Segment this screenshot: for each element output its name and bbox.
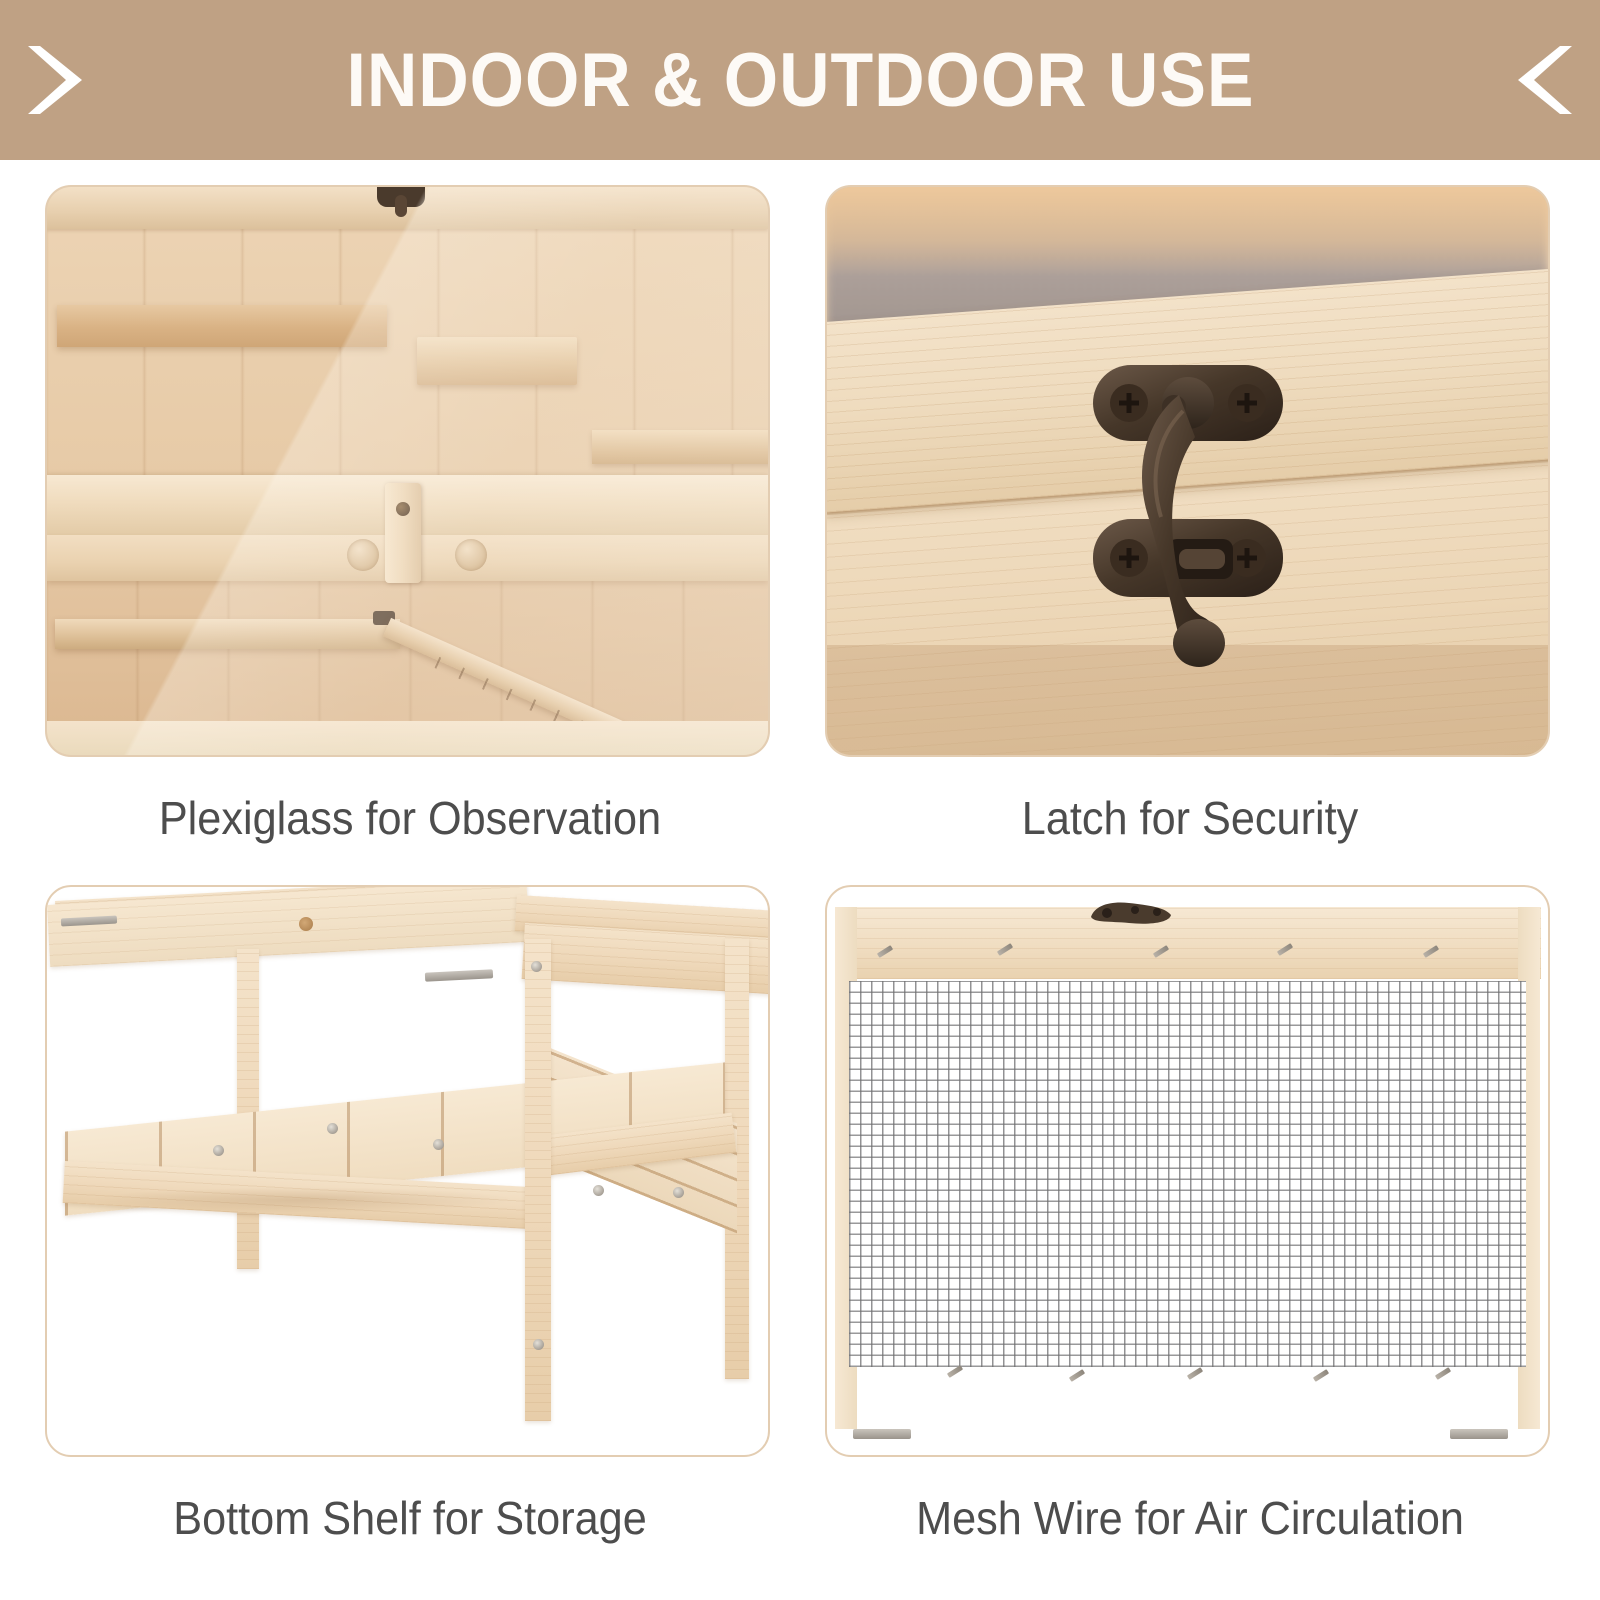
feature-card-latch: Latch for Security [825,185,1555,885]
top-hinge-icon [377,187,425,207]
mesh-hinge-icon [853,1429,911,1439]
feature-grid: Plexiglass for Observation [0,160,1600,1600]
chevron-left-icon [1512,40,1578,120]
feature-card-bottom-shelf: Bottom Shelf for Storage [45,885,775,1585]
feature-caption-bottom-shelf: Bottom Shelf for Storage [67,1491,753,1545]
latch-photo [825,185,1550,757]
feature-caption-plexiglass: Plexiglass for Observation [67,791,753,845]
mesh-hinge-icon [1450,1429,1508,1439]
feature-caption-mesh-wire: Mesh Wire for Air Circulation [847,1491,1533,1545]
header-banner: INDOOR & OUTDOOR USE [0,0,1600,160]
feature-caption-latch: Latch for Security [847,791,1533,845]
chevron-right-icon [22,40,88,120]
feature-card-plexiglass: Plexiglass for Observation [45,185,775,885]
plexiglass-photo [45,185,770,757]
mesh-wire-photo [825,885,1550,1457]
bottom-shelf-photo [45,885,770,1457]
page-title: INDOOR & OUTDOOR USE [346,43,1254,119]
wire-mesh-grid [849,981,1526,1367]
hook-latch-icon [1075,351,1345,701]
mesh-latch-icon [1085,895,1175,931]
feature-card-mesh-wire: Mesh Wire for Air Circulation [825,885,1555,1585]
shelf-hinge-icon [425,969,493,982]
